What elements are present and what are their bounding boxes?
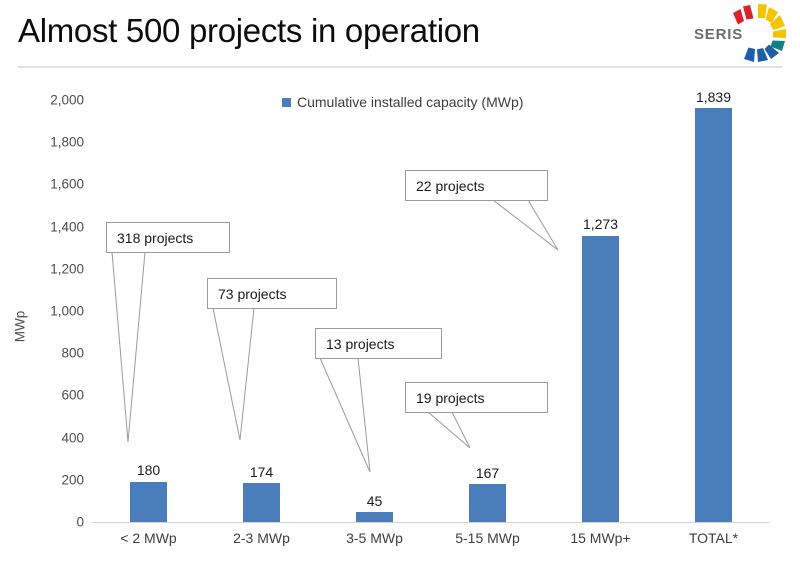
bar-group[interactable]: 1,839 (695, 72, 732, 522)
y-axis-tick: 2,000 (14, 93, 84, 108)
bar[interactable] (695, 108, 732, 522)
x-axis-tick: 2-3 MWp (197, 530, 327, 546)
x-axis-line (92, 522, 770, 523)
x-axis-tick: 3-5 MWp (310, 530, 440, 546)
y-axis-tick: 1,600 (14, 177, 84, 192)
callout-19-projects: 19 projects (405, 382, 548, 413)
page-title: Almost 500 projects in operation (18, 12, 480, 50)
x-axis-tick: < 2 MWp (84, 530, 214, 546)
x-axis-tick: 5-15 MWp (423, 530, 553, 546)
bar[interactable] (243, 483, 280, 522)
y-axis-tick: 400 (14, 430, 84, 445)
y-axis-tick: 800 (14, 346, 84, 361)
bar-value-label: 180 (104, 462, 194, 478)
seris-logo: SERIS (690, 2, 786, 64)
bar-group[interactable]: 1,273 (582, 72, 619, 522)
y-axis-tick: 1,000 (14, 304, 84, 319)
x-axis-tick: 15 MWp+ (536, 530, 666, 546)
plot-area: 180 174 45 167 1,273 1,839 (92, 72, 770, 522)
title-divider (18, 66, 782, 68)
logo-wordmark: SERIS (694, 26, 743, 43)
bar[interactable] (582, 236, 619, 522)
bar-group[interactable]: 180 (130, 72, 167, 522)
y-axis-tick: 1,400 (14, 219, 84, 234)
bar-value-label: 45 (330, 493, 420, 509)
y-axis-tick: 1,800 (14, 135, 84, 150)
y-axis-tick: 600 (14, 388, 84, 403)
y-axis-tick: 200 (14, 472, 84, 487)
bar-value-label: 167 (443, 465, 533, 481)
bar[interactable] (469, 484, 506, 522)
callout-13-projects: 13 projects (315, 328, 442, 359)
bar-group[interactable]: 167 (469, 72, 506, 522)
bar[interactable] (356, 512, 393, 522)
bar[interactable] (130, 482, 167, 523)
x-axis-tick: TOTAL* (649, 530, 779, 546)
y-axis-tick: 1,200 (14, 261, 84, 276)
bar-value-label: 174 (217, 464, 307, 480)
y-axis-tick: 0 (14, 515, 84, 530)
callout-318-projects: 318 projects (106, 222, 230, 253)
bar-value-label: 1,839 (669, 89, 759, 105)
callout-73-projects: 73 projects (207, 278, 337, 309)
bar-value-label: 1,273 (556, 216, 646, 232)
bar-chart: Cumulative installed capacity (MWp) MWp … (0, 72, 800, 561)
bar-group[interactable]: 45 (356, 72, 393, 522)
callout-22-projects: 22 projects (405, 170, 548, 201)
seris-sunburst-icon: SERIS (690, 2, 786, 64)
slide-root: Almost 500 projects in operation (0, 0, 800, 561)
